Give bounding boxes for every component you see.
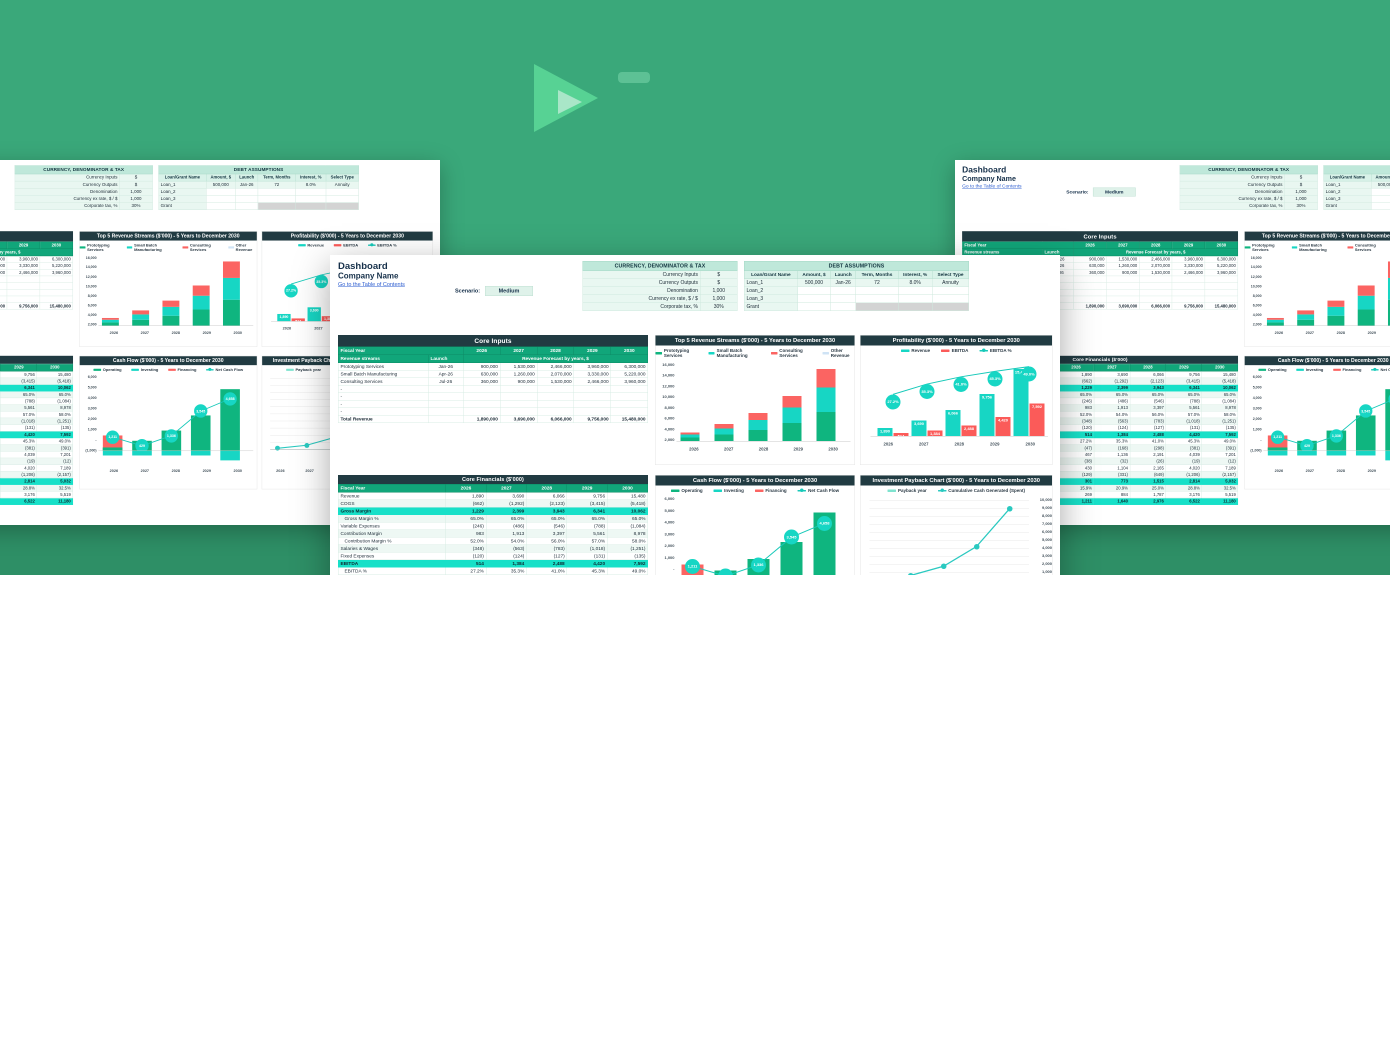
stream-value[interactable]: 360,000 [463, 378, 500, 386]
stream-value[interactable] [7, 289, 40, 296]
year-header: 2030 [1202, 364, 1238, 371]
stream-value[interactable]: 5,220,000 [611, 370, 648, 378]
stream-value[interactable] [574, 400, 611, 408]
stream-value[interactable]: 3,960,000 [40, 269, 73, 276]
legend-item: Investing [1296, 367, 1323, 371]
cell[interactable] [856, 295, 898, 303]
financial-row-label: EBITDA [338, 560, 446, 568]
cell[interactable] [296, 188, 326, 195]
cell[interactable] [831, 303, 856, 311]
total-revenue-value: 15,480,000 [40, 303, 73, 310]
financial-value: (788) [1, 398, 37, 405]
stream-value[interactable] [1205, 289, 1238, 296]
stream-value[interactable]: 1,260,000 [1106, 263, 1139, 270]
financial-value: 45.3% [1, 438, 37, 445]
financial-row-label: Gross Margin % [338, 515, 446, 523]
scenario-value[interactable]: Medium [1093, 188, 1136, 197]
stream-value[interactable] [1106, 276, 1139, 283]
row-value[interactable]: $ [700, 279, 737, 287]
stream-value[interactable]: 1,530,000 [1106, 256, 1139, 263]
legend-item: Revenue [901, 348, 930, 353]
stream-launch[interactable]: Jan-26 [428, 363, 463, 371]
chart-legend: Revenue EBITDA EBITDA % [262, 241, 432, 249]
row-value[interactable]: 30% [1284, 202, 1317, 209]
revenue-forecast-header: Revenue Forecast by years, $ [463, 355, 647, 363]
fiscal-year-header: Fiscal Year [338, 347, 463, 355]
investing-bar [191, 451, 211, 456]
cell[interactable] [206, 195, 235, 202]
stream-value[interactable]: 900,000 [463, 363, 500, 371]
stream-value[interactable]: 3,330,000 [1172, 263, 1205, 270]
cell[interactable] [798, 287, 831, 295]
bar-segment [715, 428, 734, 434]
data-point [304, 443, 309, 448]
row-label: Currency Outputs [583, 279, 700, 287]
stream-value[interactable]: 1,530,000 [500, 363, 537, 371]
column-header: Amount, $ [206, 174, 235, 181]
stream-value[interactable] [1205, 276, 1238, 283]
cell[interactable] [831, 287, 856, 295]
stream-value[interactable]: 6,300,000 [40, 256, 73, 263]
row-label: Loan_1 [1324, 181, 1371, 188]
financial-value: (131) [567, 552, 607, 560]
year-header: 2027 [1094, 364, 1130, 371]
legend-item: Other Revenue [822, 348, 854, 358]
cell[interactable]: Annuity [326, 181, 359, 188]
stream-value[interactable]: 3,960,000 [1172, 256, 1205, 263]
cell[interactable] [1371, 202, 1390, 209]
core-inputs-title: Core Inputs [962, 231, 1238, 241]
stream-launch[interactable] [428, 385, 463, 393]
stream-value[interactable]: 6,300,000 [1205, 256, 1238, 263]
financial-value: (391) [37, 445, 73, 452]
x-tick-label: 2030 [222, 468, 253, 472]
core-financials-table: Fiscal Year 2026 2027 2028 2029 2030 Rev… [0, 364, 73, 505]
stream-value[interactable] [500, 393, 537, 401]
cell[interactable] [932, 287, 969, 295]
cell[interactable] [258, 202, 296, 209]
revenue-bar [980, 394, 995, 437]
total-revenue-value: 3,690,000 [1106, 303, 1139, 310]
stream-value[interactable]: 2,070,000 [537, 370, 574, 378]
table-row: Gross Margin1,2292,3993,9436,34110,062 [338, 507, 648, 515]
stream-value[interactable] [463, 393, 500, 401]
bar-segment [783, 423, 802, 442]
financial-value: 514 [1058, 431, 1094, 438]
table-row: Currency ex rate, $ / $1,000 [1180, 195, 1318, 202]
stream-value[interactable] [1106, 296, 1139, 303]
debt-assumptions-block: DEBT ASSUMPTIONS Loan/Grant NameAmount, … [744, 261, 969, 311]
financial-value: 4,039 [1166, 451, 1202, 458]
stream-value[interactable]: 6,300,000 [611, 363, 648, 371]
financial-value: (135) [37, 425, 73, 432]
row-value[interactable]: $ [1284, 174, 1317, 181]
bar-segment [132, 311, 149, 315]
stream-value[interactable] [40, 289, 73, 296]
row-value[interactable]: $ [119, 181, 152, 188]
revenue-streams-chart: Top 5 Revenue Streams ($'000) - 5 Years … [655, 335, 855, 465]
row-value[interactable]: 1,000 [1284, 188, 1317, 195]
cell[interactable] [1371, 195, 1390, 202]
stream-value[interactable]: 360,000 [1074, 269, 1107, 276]
revenue-streams-chart: Top 5 Revenue Streams ($'000) - 5 Years … [1244, 231, 1390, 347]
stream-value[interactable]: 3,960,000 [1205, 269, 1238, 276]
financial-value: 3,690 [486, 492, 526, 500]
stream-value[interactable]: 2,070,000 [1139, 263, 1172, 270]
bar-segment [1327, 307, 1344, 316]
stream-value[interactable]: 630,000 [1074, 263, 1107, 270]
y-tick-label: 4,000 [80, 313, 97, 317]
stream-name[interactable]: - [338, 400, 428, 408]
stream-value[interactable]: 2,466,000 [7, 269, 40, 276]
column-header: Amount, $ [1371, 174, 1390, 181]
y-tick-label: 10,000 [80, 284, 97, 288]
cell[interactable]: 500,000 [1371, 181, 1390, 188]
cell[interactable]: Jan-26 [831, 279, 856, 287]
stream-value[interactable] [1139, 289, 1172, 296]
chart-title: Profitability ($'000) - 5 Years to Decem… [861, 336, 1053, 346]
row-label: Grant [1324, 202, 1371, 209]
table-row: Loan_2 [744, 287, 969, 295]
cell[interactable] [898, 295, 932, 303]
stream-value[interactable]: 1,530,000 [1139, 269, 1172, 276]
stream-value[interactable]: 1,530,000 [537, 378, 574, 386]
table-row: Net Profit After Tax3017731,5152,8145,03… [0, 478, 73, 485]
y-tick-label: 9,000 [1030, 506, 1052, 511]
column-header: Select Type [326, 174, 359, 181]
stream-value[interactable] [611, 400, 648, 408]
stream-value[interactable]: 3,960,000 [574, 363, 611, 371]
financial-value: 5,032 [37, 478, 73, 485]
cell[interactable] [326, 202, 359, 209]
legend-item: Financing [755, 488, 787, 493]
stream-value[interactable] [537, 400, 574, 408]
legend-item: Payback year [887, 488, 926, 493]
financial-value: 49.0% [607, 567, 647, 575]
y-tick-label: 8,000 [80, 294, 97, 298]
cell[interactable] [326, 195, 359, 202]
financial-value: 35.3% [1094, 438, 1130, 445]
toc-link[interactable]: Go to the Table of Contents [338, 282, 405, 288]
toc-link[interactable]: Go to the Table of Contents [962, 184, 1022, 189]
x-tick-label: 2030 [1013, 442, 1049, 447]
cell[interactable] [798, 295, 831, 303]
stream-value[interactable] [463, 385, 500, 393]
stream-value[interactable]: 630,000 [463, 370, 500, 378]
year-header: 2030 [611, 347, 648, 355]
stream-name[interactable]: Consulting Services [338, 378, 428, 386]
stream-value[interactable]: 3,960,000 [611, 378, 648, 386]
y-tick-label: 7,000 [1030, 522, 1052, 527]
stream-value[interactable] [1074, 276, 1107, 283]
total-revenue-value: 9,756,000 [7, 303, 40, 310]
financial-row-label: Salaries & Wages [338, 545, 446, 553]
y-tick-label: 4,000 [656, 427, 675, 432]
stream-value[interactable] [1106, 289, 1139, 296]
stream-value[interactable]: 3,960,000 [7, 256, 40, 263]
stream-value[interactable] [7, 296, 40, 303]
cell[interactable] [932, 303, 969, 311]
scenario-selector[interactable]: Scenario: Medium [455, 286, 533, 296]
stream-value[interactable] [537, 408, 574, 416]
stream-value[interactable] [1074, 289, 1107, 296]
stream-value[interactable]: 5,220,000 [1205, 263, 1238, 270]
cell[interactable] [206, 202, 235, 209]
financial-value: 6,522 [1, 498, 37, 505]
financial-value: (5,418) [607, 500, 647, 508]
core-inputs-title: Core Inputs [0, 231, 73, 241]
column-header: Launch [236, 174, 258, 181]
financial-value: 7,201 [1202, 451, 1238, 458]
y-tick-label: 1,000 [1030, 570, 1052, 575]
financial-value: 5,561 [567, 530, 607, 538]
financial-value: 57.0% [567, 537, 607, 545]
stream-value[interactable]: 3,330,000 [7, 263, 40, 270]
stream-value[interactable] [463, 400, 500, 408]
net-cash-bubble: 1,211 [106, 430, 119, 443]
stream-value[interactable] [500, 385, 537, 393]
total-revenue-value: 15,480,000 [1205, 303, 1238, 310]
stream-value[interactable] [0, 296, 7, 303]
chart-legend: Operating Investing Financing Net Cash F… [80, 365, 257, 373]
stream-value[interactable] [500, 408, 537, 416]
financial-value: 5,561 [1, 405, 37, 412]
stream-value[interactable] [1172, 296, 1205, 303]
y-tick-label: 3,000 [1030, 554, 1052, 559]
chart-title: Top 5 Revenue Streams ($'000) - 5 Years … [1245, 232, 1390, 241]
stream-value[interactable]: 5,220,000 [40, 263, 73, 270]
financial-value: 1,515 [1130, 478, 1166, 485]
table-row: Consulting ServicesJul-26360,000900,0001… [338, 378, 648, 386]
cell[interactable]: Jan-26 [236, 181, 258, 188]
stream-value[interactable] [40, 276, 73, 283]
row-value[interactable]: 30% [700, 303, 737, 311]
stream-value[interactable] [7, 283, 40, 290]
row-value[interactable]: $ [1284, 181, 1317, 188]
stream-value[interactable] [7, 276, 40, 283]
stream-value[interactable]: 900,000 [1106, 269, 1139, 276]
financial-value: 1,640 [1094, 498, 1130, 505]
table-row: Interest Expense(38)(32)(26)(19)(12) [0, 458, 73, 465]
x-tick-label: 2027 [129, 330, 160, 334]
financial-value: 9,756 [1166, 371, 1202, 378]
cell[interactable] [236, 195, 258, 202]
bar-segment [1358, 309, 1375, 326]
cell[interactable] [206, 188, 235, 195]
percent-bubble: 45.3% [988, 371, 1003, 386]
bar-segment [162, 316, 179, 326]
chart-title: Cash Flow ($'000) - 5 Years to December … [1245, 356, 1390, 365]
stream-value[interactable] [611, 385, 648, 393]
cell[interactable] [296, 195, 326, 202]
y-tick-label: 2,000 [1030, 562, 1052, 567]
y-tick-label: 8,000 [1030, 514, 1052, 519]
stream-value[interactable] [611, 393, 648, 401]
stream-value[interactable] [537, 393, 574, 401]
y-tick-label: 12,000 [1245, 275, 1262, 279]
stream-value[interactable]: 2,070,000 [0, 263, 7, 270]
cell[interactable] [236, 188, 258, 195]
stream-value[interactable] [1139, 276, 1172, 283]
stream-value[interactable] [463, 408, 500, 416]
cell[interactable]: 72 [258, 181, 296, 188]
core-inputs-section: Core Inputs Fiscal Year 2026 2027 2028 2… [338, 335, 648, 423]
financial-value: 6,522 [1166, 498, 1202, 505]
stream-value[interactable] [574, 408, 611, 416]
stream-value[interactable] [1139, 283, 1172, 290]
total-revenue-value: 6,066,000 [1139, 303, 1172, 310]
stream-value[interactable] [1139, 296, 1172, 303]
cell[interactable] [296, 202, 326, 209]
cell[interactable] [856, 287, 898, 295]
table-row: Currency Outputs$ [583, 279, 738, 287]
financial-value: 3,690 [1094, 371, 1130, 378]
financial-value: 54.0% [1094, 411, 1130, 418]
cell[interactable]: 8.0% [296, 181, 326, 188]
cell[interactable] [898, 303, 932, 311]
scenario-value[interactable]: Medium [485, 286, 533, 296]
financial-value: 1,211 [1058, 498, 1094, 505]
stream-launch[interactable]: Jul-26 [428, 378, 463, 386]
table-row: - [0, 289, 73, 296]
row-label: Loan_1 [744, 279, 797, 287]
legend-item: Investing [131, 367, 158, 371]
stream-name[interactable]: - [338, 393, 428, 401]
financial-value: 49.0% [37, 438, 73, 445]
stream-value[interactable]: 2,466,000 [1139, 256, 1172, 263]
bar-segment [193, 285, 210, 295]
y-tick-label: 6,000 [1030, 530, 1052, 535]
stream-value[interactable] [537, 385, 574, 393]
stream-launch[interactable] [428, 408, 463, 416]
cell[interactable]: 72 [856, 279, 898, 287]
stream-value[interactable] [611, 408, 648, 416]
year-header: 2028 [0, 242, 7, 249]
stream-value[interactable] [574, 393, 611, 401]
row-value[interactable]: 30% [119, 202, 152, 209]
core-financials-section: Core Financials ($'000) Fiscal Year 2026… [338, 475, 648, 575]
y-tick-label: 4,000 [1245, 313, 1262, 317]
stream-value[interactable] [0, 276, 7, 283]
financial-value: (3,415) [1, 378, 37, 385]
cell[interactable] [898, 287, 932, 295]
financial-value: 6,066 [1130, 371, 1166, 378]
cell[interactable] [326, 188, 359, 195]
row-value[interactable]: 1,000 [1284, 195, 1317, 202]
cell[interactable] [1371, 188, 1390, 195]
column-header: Amount, $ [798, 271, 831, 279]
financial-value: 3,943 [527, 507, 567, 515]
bar-segment [817, 412, 836, 442]
stream-value[interactable] [574, 385, 611, 393]
y-tick-label: 4,000 [80, 396, 97, 400]
stream-value[interactable]: 900,000 [1074, 256, 1107, 263]
stream-value[interactable] [1172, 283, 1205, 290]
stream-value[interactable]: 2,466,000 [537, 363, 574, 371]
stream-value[interactable] [40, 283, 73, 290]
scenario-selector[interactable]: Scenario: Medium [1066, 188, 1135, 197]
y-tick-label: 4,000 [1245, 396, 1262, 400]
stream-launch[interactable] [428, 400, 463, 408]
cell[interactable] [236, 202, 258, 209]
percent-bubble: 41.0% [954, 377, 969, 392]
cell[interactable] [258, 188, 296, 195]
financial-value: 57.0% [1166, 411, 1202, 418]
row-value[interactable]: 1,000 [700, 287, 737, 295]
stream-launch[interactable] [428, 393, 463, 401]
cell[interactable] [798, 303, 831, 311]
stream-value[interactable] [0, 289, 7, 296]
stream-value[interactable] [1074, 296, 1107, 303]
financial-value: 3,176 [1, 491, 37, 498]
cell[interactable] [856, 303, 898, 311]
row-value[interactable]: 1,000 [119, 188, 152, 195]
cell[interactable]: Annuity [932, 279, 969, 287]
cell[interactable]: 500,000 [798, 279, 831, 287]
stream-value[interactable]: 2,466,000 [1172, 269, 1205, 276]
stream-launch[interactable]: Apr-26 [428, 370, 463, 378]
financial-value: 1,384 [1094, 431, 1130, 438]
table-row: Salaries & Wages(348)(563)(783)(1,018)(1… [338, 545, 648, 553]
stream-value[interactable] [1205, 296, 1238, 303]
stream-value[interactable] [40, 296, 73, 303]
financial-value: 65.0% [567, 515, 607, 523]
financial-value: 57.0% [1, 411, 37, 418]
row-value[interactable]: $ [119, 174, 152, 181]
stream-value[interactable]: 1,530,000 [0, 269, 7, 276]
stream-value[interactable]: 3,330,000 [574, 370, 611, 378]
stream-value[interactable] [500, 400, 537, 408]
cell[interactable] [831, 295, 856, 303]
cell[interactable]: 500,000 [206, 181, 235, 188]
financial-value: (381) [1166, 445, 1202, 452]
stream-name[interactable]: - [338, 385, 428, 393]
row-value[interactable]: $ [700, 271, 737, 279]
y-tick-label: 8,000 [1245, 294, 1262, 298]
cell[interactable] [258, 195, 296, 202]
financial-value: 65.0% [486, 515, 526, 523]
stream-value[interactable] [0, 283, 7, 290]
x-tick-label: 2028 [1325, 330, 1356, 334]
y-tick-label: 6,000 [656, 497, 675, 502]
row-value[interactable]: 1,000 [119, 195, 152, 202]
cell[interactable] [932, 295, 969, 303]
financial-value: 5,032 [1202, 478, 1238, 485]
stream-value[interactable] [1106, 283, 1139, 290]
stream-value[interactable]: 900,000 [500, 378, 537, 386]
stream-value[interactable] [1205, 283, 1238, 290]
stream-value[interactable]: 2,466,000 [574, 378, 611, 386]
financial-value: (1,206) [1, 471, 37, 478]
stream-name[interactable]: Small Batch Manufacturing [338, 370, 428, 378]
financial-value: 11,180 [37, 498, 73, 505]
debt-block-caption: DEBT ASSUMPTIONS [1324, 166, 1390, 174]
financial-value: (124) [486, 552, 526, 560]
year-header: 2028 [537, 347, 574, 355]
column-header: Select Type [932, 271, 969, 279]
total-revenue-value: 9,756,000 [1172, 303, 1205, 310]
stream-name[interactable]: - [338, 408, 428, 416]
stream-value[interactable]: 1,260,000 [500, 370, 537, 378]
stream-value[interactable] [1172, 289, 1205, 296]
stream-value[interactable] [1074, 283, 1107, 290]
stream-value[interactable] [1172, 276, 1205, 283]
stream-value[interactable]: 2,466,000 [0, 256, 7, 263]
x-tick-label: 2026 [677, 447, 712, 452]
cell[interactable]: 8.0% [898, 279, 932, 287]
stream-name[interactable]: Prototyping Services [338, 363, 428, 371]
row-value[interactable]: 1,000 [700, 295, 737, 303]
